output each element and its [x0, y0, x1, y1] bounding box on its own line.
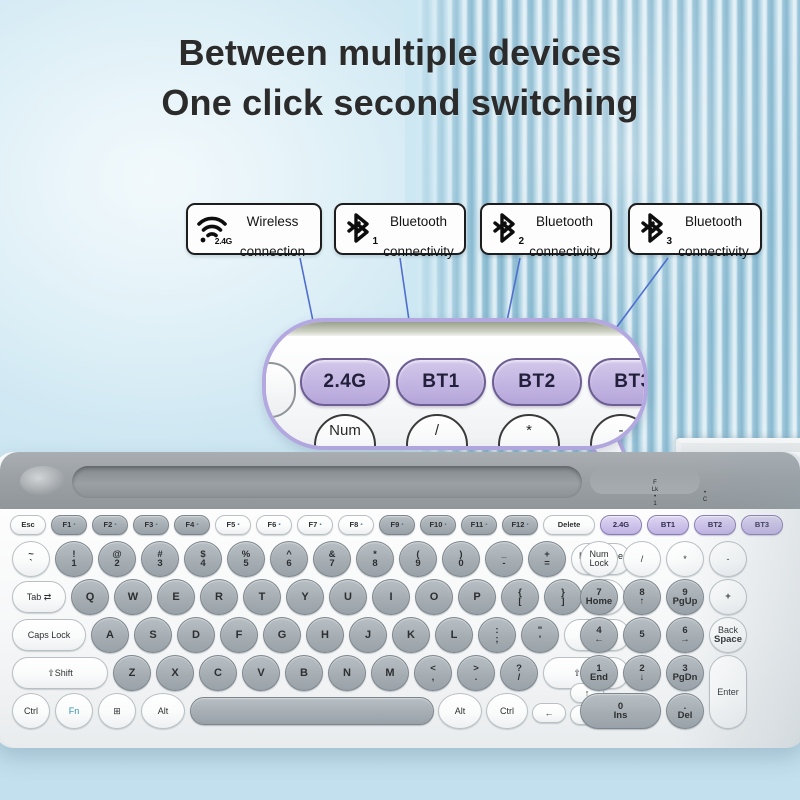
key-label: Fn [69, 707, 80, 716]
key-label: * [683, 555, 687, 564]
numpad-key-0-108[interactable]: 4← [580, 617, 618, 653]
numpad-key-0-r1[interactable]: NumLock [580, 541, 618, 577]
key-num-6[interactable]: ^6 [270, 541, 308, 577]
key-label: Caps Lock [28, 631, 71, 640]
key-m[interactable]: M [371, 655, 409, 691]
numpad-key-3-r1[interactable]: - [709, 541, 747, 577]
badge-label: Bluetooth connectivity [527, 199, 602, 259]
key-24g[interactable]: 2.4G [600, 515, 642, 535]
keyboard: FLk•1 •C Esc F1 ▪ F2 ▪ F3 ▪ F4 ▪ F5 ▪ F6… [0, 452, 800, 752]
key-label: Tab ⇄ [27, 593, 52, 602]
magnified-key-bt3[interactable]: BT3 [588, 358, 648, 406]
numpad-key-3-70[interactable]: + [709, 579, 747, 615]
key-legend-bottom: 9 [415, 559, 420, 569]
key-f7[interactable]: F7 ▪ [297, 515, 333, 535]
key-legend-bottom: 5 [243, 559, 248, 569]
key-f12[interactable]: F12 ▪ [502, 515, 538, 535]
key-legend-bottom: ' [539, 635, 541, 645]
refresh-icon: ▪ [196, 522, 198, 528]
bezel-gloss [20, 466, 66, 496]
numpad-key-3-108[interactable]: BackSpace [709, 617, 747, 653]
product-marketing-image: Between multiple devices One click secon… [0, 0, 800, 800]
key-bt3[interactable]: BT3 [741, 515, 783, 535]
key-arrow-left[interactable]: ← [532, 703, 566, 723]
key-f6[interactable]: F6 ▪ [256, 515, 292, 535]
key-label: O [430, 592, 439, 603]
key-legend-bottom: [ [518, 597, 521, 607]
key-j[interactable]: J [349, 617, 387, 653]
key-legend-bottom: 3 [157, 559, 162, 569]
wifi-icon: 2.4G [195, 211, 229, 247]
key-bracket-0[interactable]: {[ [501, 579, 539, 615]
badge-index: 1 [372, 236, 378, 247]
key-ctrl-left[interactable]: Ctrl [12, 693, 50, 729]
key-label: Ctrl [500, 707, 514, 716]
numpad-key-1-108[interactable]: 5 [623, 617, 661, 653]
key-label: F3 [145, 521, 154, 529]
key-bracket-1[interactable]: }] [544, 579, 582, 615]
bluetooth-icon: 3 [637, 211, 671, 247]
key-legend-bottom: / [518, 673, 521, 683]
badge-bluetooth-3[interactable]: 3 Bluetooth connectivity [628, 203, 762, 255]
key-legend-top: + [725, 592, 731, 602]
key-z[interactable]: Z [113, 655, 151, 691]
magnifier-bezel [266, 322, 644, 336]
key-label: NumLock [589, 550, 608, 568]
key-l[interactable]: L [435, 617, 473, 653]
key-esc[interactable]: Esc [10, 515, 46, 535]
play-pause-icon: ▪ [319, 522, 321, 528]
key-label: K [407, 630, 415, 641]
key-num-1[interactable]: !1 [55, 541, 93, 577]
home-icon: ▪ [73, 522, 75, 528]
numpad-key-1-r1[interactable]: / [623, 541, 661, 577]
numpad-key-zero[interactable]: 0Ins [580, 693, 661, 729]
key-legend-bottom: ↓ [640, 673, 645, 683]
key-num-4[interactable]: $4 [184, 541, 222, 577]
badge-label-line2: connection [240, 244, 305, 259]
key-shift-left[interactable]: ⇧Shift [12, 657, 108, 689]
keyboard-plate: Esc F1 ▪ F2 ▪ F3 ▪ F4 ▪ F5 ▪ F6 ▪ F7 ▪ F… [0, 509, 800, 748]
next-track-icon: ▪ [278, 522, 280, 528]
key-legend-bottom: ] [561, 597, 564, 607]
key-ctrl-right[interactable]: Ctrl [486, 693, 528, 729]
headline-line-1: Between multiple devices [0, 28, 800, 78]
key-label: F4 [186, 521, 195, 529]
key-legend-bottom: 0 [458, 559, 463, 569]
key-label: Esc [21, 521, 34, 529]
key-label: Delete [558, 521, 581, 529]
key-zpunct-2[interactable]: ?/ [500, 655, 538, 691]
key-label: N [343, 668, 351, 679]
key-legend-bottom: PgUp [673, 597, 698, 607]
led-indicator-fnlock: FLk•1 [648, 480, 662, 508]
numpad-key-0-146[interactable]: 1End [580, 655, 618, 691]
headline-line-2: One click second switching [0, 78, 800, 128]
key-x[interactable]: X [156, 655, 194, 691]
key-label: B [300, 668, 308, 679]
bluetooth-icon: 1 [343, 211, 377, 247]
key-punct-1[interactable]: "' [521, 617, 559, 653]
key-label: G [278, 630, 287, 641]
magnified-key-bt2[interactable]: BT2 [492, 358, 582, 406]
key-f5[interactable]: F5 ▪ [215, 515, 251, 535]
badge-label-line1: Wireless [247, 214, 299, 229]
key-i[interactable]: I [372, 579, 410, 615]
key-punct-0[interactable]: :; [478, 617, 516, 653]
numpad-key-0-70[interactable]: 7Home [580, 579, 618, 615]
key-n[interactable]: N [328, 655, 366, 691]
key-a[interactable]: A [91, 617, 129, 653]
key-b[interactable]: B [285, 655, 323, 691]
key-legend-bottom: . [475, 673, 478, 683]
key-alt-left[interactable]: Alt [141, 693, 185, 729]
key-legend-top: Enter [717, 688, 739, 697]
key-label: BT2 [708, 521, 722, 529]
lock-icon: ▪ [526, 522, 528, 528]
key-f2[interactable]: F2 ▪ [92, 515, 128, 535]
key-legend-bottom: Ins [614, 711, 628, 721]
key-label: X [171, 668, 178, 679]
key-num--[interactable]: _- [485, 541, 523, 577]
key-f9[interactable]: F9 ▪ [379, 515, 415, 535]
key-legend-bottom: 4 [200, 559, 205, 569]
badge-label: Bluetooth connectivity [675, 199, 752, 259]
key-label: F9 [391, 521, 400, 529]
callout-badge-group: 2.4G Wireless connection 1 Bluetooth con… [186, 203, 766, 259]
key-legend-bottom: 8 [372, 559, 377, 569]
key-label: U [344, 592, 352, 603]
vol-up-icon: ▪ [485, 522, 487, 528]
key-w[interactable]: W [114, 579, 152, 615]
badge-index: 2 [518, 236, 524, 247]
badge-label: Wireless connection [233, 199, 312, 259]
badge-label-line1: Bluetooth [536, 214, 593, 229]
vol-down-icon: ▪ [444, 522, 446, 528]
key-label: A [106, 630, 114, 641]
magnified-key-24g[interactable]: 2.4G [300, 358, 390, 406]
key-legend-bottom: Home [586, 597, 612, 607]
key-legend-bottom: → [680, 635, 690, 645]
magnified-key-bt1[interactable]: BT1 [396, 358, 486, 406]
badge-label-line2: connectivity [678, 244, 749, 259]
key-backtick[interactable]: ~` [12, 541, 50, 577]
key-num-8[interactable]: *8 [356, 541, 394, 577]
key-label: BT1 [661, 521, 675, 529]
keyboard-bezel: FLk•1 •C [0, 452, 800, 512]
key-label: S [149, 630, 156, 641]
key-label: P [473, 592, 480, 603]
key-legend-bottom: ↑ [640, 597, 645, 607]
key-o[interactable]: O [415, 579, 453, 615]
key-legend-bottom: ` [29, 559, 32, 569]
badge-label: Bluetooth connectivity [381, 199, 456, 259]
key-c[interactable]: C [199, 655, 237, 691]
badge-label-line1: Bluetooth [390, 214, 447, 229]
key-legend-bottom: , [432, 673, 435, 683]
key-legend-bottom: - [502, 559, 505, 569]
key-legend-bottom: PgDn [673, 673, 698, 683]
key-zpunct-1[interactable]: >. [457, 655, 495, 691]
key-legend-bottom: 7 [329, 559, 334, 569]
key-label: M [385, 668, 394, 679]
bluetooth-icon: 2 [489, 211, 523, 247]
key-label: Y [301, 592, 308, 603]
key-label: 2.4G [613, 521, 629, 529]
key-label: H [321, 630, 329, 641]
key-num-0[interactable]: )0 [442, 541, 480, 577]
key-legend-bottom: = [544, 559, 550, 569]
badge-wireless-24g[interactable]: 2.4G Wireless connection [186, 203, 322, 255]
key-h[interactable]: H [306, 617, 344, 653]
key-bt2[interactable]: BT2 [694, 515, 736, 535]
key-label: F8 [350, 521, 359, 529]
key-label: V [257, 668, 264, 679]
stop-icon: ▪ [360, 522, 362, 528]
key-f4[interactable]: F4 ▪ [174, 515, 210, 535]
key-y[interactable]: Y [286, 579, 324, 615]
key-label: D [192, 630, 200, 641]
key-num-7[interactable]: &7 [313, 541, 351, 577]
windows-icon: ⊞ [113, 707, 121, 716]
key-label: Z [129, 668, 136, 679]
key-legend-bottom: Del [678, 711, 693, 721]
key-label: F11 [471, 521, 484, 529]
key-label: F1 [63, 521, 72, 529]
key-f[interactable]: F [220, 617, 258, 653]
back-icon: ▪ [114, 522, 116, 528]
key-label: F2 [104, 521, 113, 529]
key-num-2[interactable]: @2 [98, 541, 136, 577]
page-title: Between multiple devices One click secon… [0, 28, 800, 128]
key-f10[interactable]: F10 ▪ [420, 515, 456, 535]
key-label: R [215, 592, 223, 603]
key-legend-bottom: 6 [286, 559, 291, 569]
key-s[interactable]: S [134, 617, 172, 653]
key-label: F5 [227, 521, 236, 529]
key-k[interactable]: K [392, 617, 430, 653]
key-legend-bottom: Space [714, 635, 742, 645]
key-space[interactable] [190, 697, 434, 725]
badge-label-line2: connectivity [529, 244, 600, 259]
key-legend-bottom: 1 [71, 559, 76, 569]
key-bt1[interactable]: BT1 [647, 515, 689, 535]
key-num-3[interactable]: #3 [141, 541, 179, 577]
key-label: Alt [455, 707, 466, 716]
key-label: Q [86, 592, 95, 603]
numpad-key-2-r1[interactable]: * [666, 541, 704, 577]
key-num-9[interactable]: (9 [399, 541, 437, 577]
key-f11[interactable]: F11 ▪ [461, 515, 497, 535]
key-legend-top: 5 [639, 630, 644, 640]
key-legend-bottom: End [590, 673, 608, 683]
magnifier-bubble: 2.4G BT1 BT2 BT3 Num / * - [262, 318, 648, 450]
numpad-key-1-70[interactable]: 8↑ [623, 579, 661, 615]
badge-index: 3 [666, 236, 672, 247]
key-f3[interactable]: F3 ▪ [133, 515, 169, 535]
key-num-5[interactable]: %5 [227, 541, 265, 577]
key-label: F7 [309, 521, 318, 529]
key-alt-right[interactable]: Alt [438, 693, 482, 729]
key-g[interactable]: G [263, 617, 301, 653]
key-u[interactable]: U [329, 579, 367, 615]
mute-icon: ▪ [401, 522, 403, 528]
key-label: F10 [429, 521, 442, 529]
key-q[interactable]: Q [71, 579, 109, 615]
device-stand-slot-2 [590, 468, 700, 494]
key-label: Ctrl [24, 707, 38, 716]
key-label: W [128, 592, 138, 603]
key-e[interactable]: E [157, 579, 195, 615]
numpad-key-3-146[interactable]: Enter [709, 655, 747, 729]
key-legend-bottom: ← [594, 635, 604, 645]
numpad-key-2-108[interactable]: 6→ [666, 617, 704, 653]
key-win[interactable]: ⊞ [98, 693, 136, 729]
badge-label-line1: Bluetooth [685, 214, 742, 229]
badge-bluetooth-1[interactable]: 1 Bluetooth connectivity [334, 203, 466, 255]
key-v[interactable]: V [242, 655, 280, 691]
numpad-key-2-70[interactable]: 9PgUp [666, 579, 704, 615]
key-label: / [641, 555, 644, 564]
numpad-key-dot[interactable]: .Del [666, 693, 704, 729]
prev-track-icon: ▪ [237, 522, 239, 528]
key-p[interactable]: P [458, 579, 496, 615]
key-label: F6 [268, 521, 277, 529]
led-indicator-caps: •C [698, 490, 712, 504]
key-num-=[interactable]: += [528, 541, 566, 577]
key-del[interactable]: Delete [543, 515, 595, 535]
key-f1[interactable]: F1 ▪ [51, 515, 87, 535]
key-d[interactable]: D [177, 617, 215, 653]
key-label: Alt [158, 707, 169, 716]
key-label: J [365, 630, 371, 641]
key-label: ⇧Shift [47, 669, 73, 678]
key-r[interactable]: R [200, 579, 238, 615]
numpad-key-1-146[interactable]: 2↓ [623, 655, 661, 691]
key-caps-lock[interactable]: Caps Lock [12, 619, 86, 651]
arrow-left-icon: ← [545, 709, 554, 718]
key-label: I [389, 592, 392, 603]
badge-label-line2: connectivity [383, 244, 454, 259]
key-label: BT3 [755, 521, 769, 529]
key-legend-bottom: 2 [114, 559, 119, 569]
key-legend-bottom: ; [495, 635, 498, 645]
forward-icon: ▪ [155, 522, 157, 528]
key-fn[interactable]: Fn [55, 693, 93, 729]
key-label: L [451, 630, 458, 641]
key-label: E [172, 592, 179, 603]
key-label: - [727, 555, 730, 564]
badge-bluetooth-2[interactable]: 2 Bluetooth connectivity [480, 203, 612, 255]
key-label: C [214, 668, 222, 679]
key-tab[interactable]: Tab ⇄ [12, 581, 66, 613]
key-label: F12 [511, 521, 524, 529]
key-f8[interactable]: F8 ▪ [338, 515, 374, 535]
key-t[interactable]: T [243, 579, 281, 615]
key-zpunct-0[interactable]: <, [414, 655, 452, 691]
device-stand-slot [72, 466, 582, 498]
key-label: T [259, 592, 266, 603]
key-label: F [236, 630, 243, 641]
badge-index: 2.4G [215, 236, 232, 246]
numpad-key-2-146[interactable]: 3PgDn [666, 655, 704, 691]
